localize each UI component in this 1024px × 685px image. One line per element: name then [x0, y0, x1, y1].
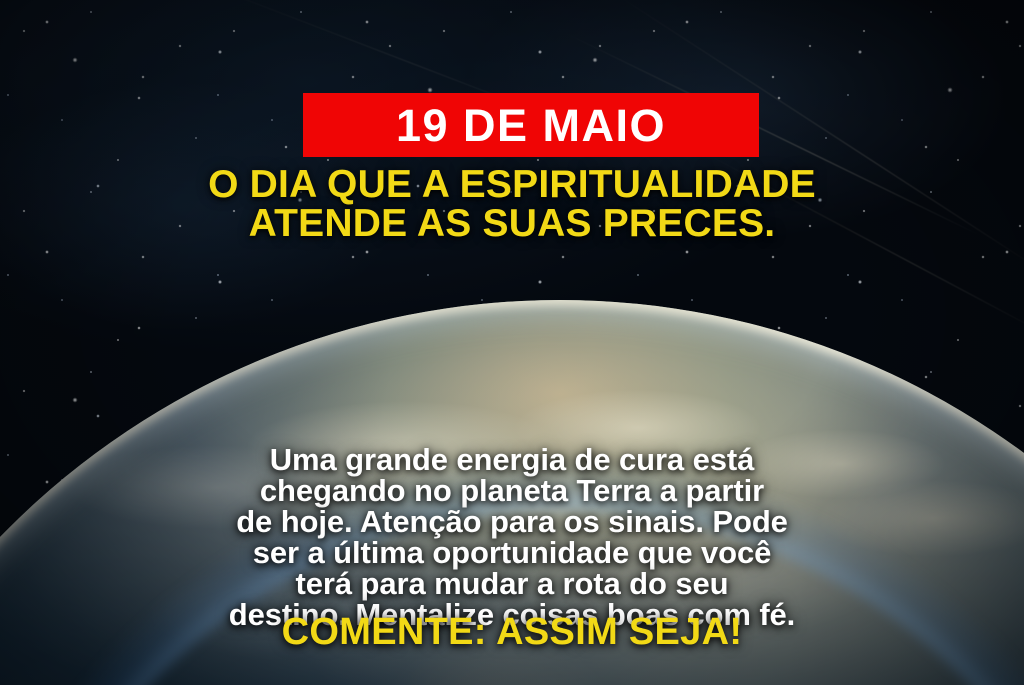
date-banner: 19 DE MAIO [303, 93, 759, 157]
headline-line-1: O DIA QUE A ESPIRITUALIDADE [0, 165, 1024, 204]
call-to-action-label: COMENTE: ASSIM SEJA! [0, 613, 1024, 651]
body-line-2: chegando no planeta Terra a partir [0, 475, 1024, 506]
poster-image: 19 DE MAIO O DIA QUE A ESPIRITUALIDADE A… [0, 0, 1024, 685]
body-line-5: terá para mudar a rota do seu [0, 568, 1024, 599]
headline: O DIA QUE A ESPIRITUALIDADE ATENDE AS SU… [0, 165, 1024, 243]
poster-content: 19 DE MAIO O DIA QUE A ESPIRITUALIDADE A… [0, 0, 1024, 685]
body-line-4: ser a última oportunidade que você [0, 537, 1024, 568]
date-banner-label: 19 DE MAIO [396, 103, 666, 148]
body-line-1: Uma grande energia de cura está [0, 444, 1024, 475]
body-paragraph: Uma grande energia de cura está chegando… [0, 444, 1024, 630]
headline-line-2: ATENDE AS SUAS PRECES. [0, 204, 1024, 243]
body-line-3: de hoje. Atenção para os sinais. Pode [0, 506, 1024, 537]
